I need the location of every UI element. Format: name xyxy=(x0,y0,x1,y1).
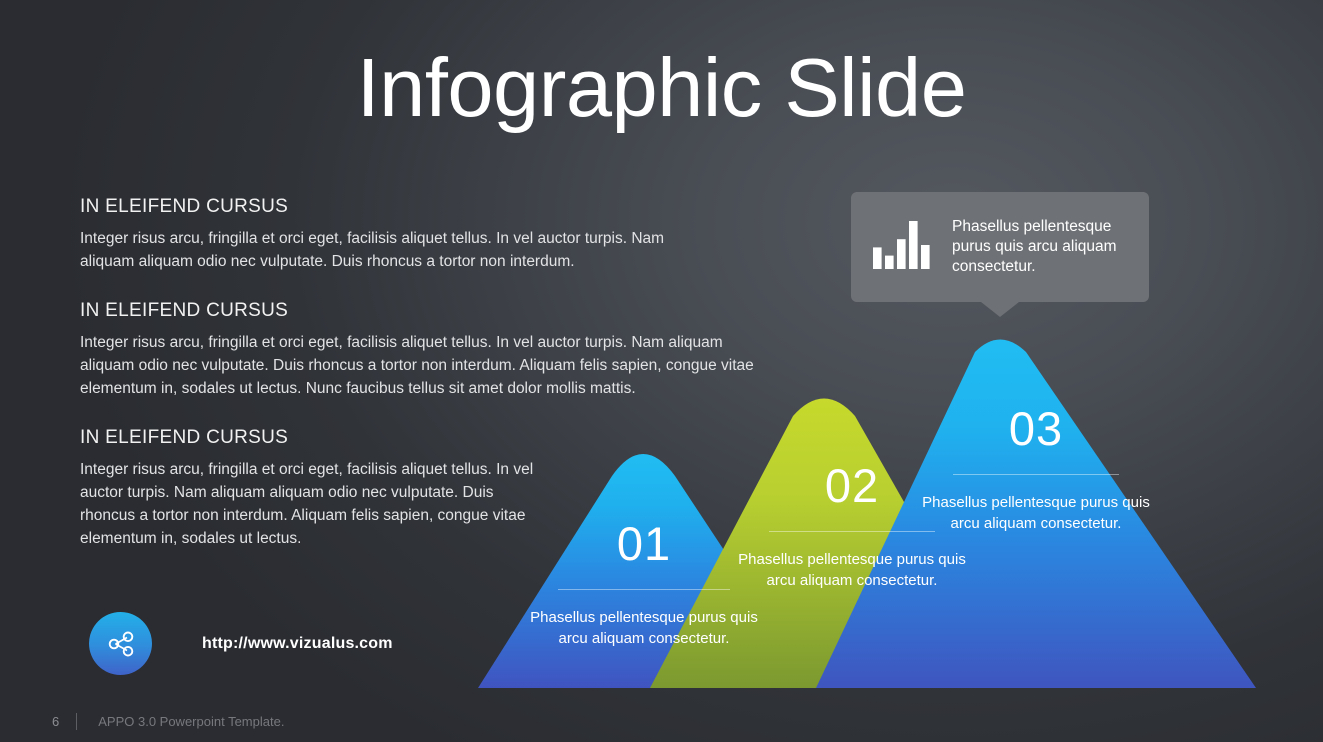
mountain-caption-03: Phasellus pellentesque purus quis arcu a… xyxy=(917,492,1155,534)
mountain-number-03: 03 xyxy=(917,405,1155,452)
text-block-3-body: Integer risus arcu, fringilla et orci eg… xyxy=(80,458,550,550)
footer-note: APPO 3.0 Powerpoint Template. xyxy=(98,714,284,729)
mountain-divider-01 xyxy=(558,589,730,590)
mountain-caption-02: Phasellus pellentesque purus quis arcu a… xyxy=(733,549,971,591)
mountain-label-03[interactable]: 03 Phasellus pellentesque purus quis arc… xyxy=(917,405,1155,534)
page-title: Infographic Slide xyxy=(0,44,1323,131)
mountain-number-01: 01 xyxy=(524,520,764,567)
share-nodes-icon xyxy=(104,627,138,661)
bar-chart-icon xyxy=(873,221,930,274)
mountain-divider-03 xyxy=(953,474,1119,475)
share-row[interactable]: http://www.vizualus.com xyxy=(89,612,393,675)
footer-divider xyxy=(76,713,77,730)
infographic-slide: Infographic Slide IN ELEIFEND CURSUS Int… xyxy=(0,0,1323,742)
text-block-1-heading: IN ELEIFEND CURSUS xyxy=(80,196,760,218)
mountain-caption-01: Phasellus pellentesque purus quis arcu a… xyxy=(524,607,764,649)
text-block-2: IN ELEIFEND CURSUS Integer risus arcu, f… xyxy=(80,300,760,400)
text-block-3-heading: IN ELEIFEND CURSUS xyxy=(80,427,760,449)
mountain-divider-02 xyxy=(769,531,935,532)
callout-text: Phasellus pellentesque purus quis arcu a… xyxy=(952,217,1133,277)
page-number: 6 xyxy=(52,714,59,729)
text-block-2-heading: IN ELEIFEND CURSUS xyxy=(80,300,760,322)
share-button[interactable] xyxy=(89,612,152,675)
website-url[interactable]: http://www.vizualus.com xyxy=(202,635,393,653)
text-block-2-body: Integer risus arcu, fringilla et orci eg… xyxy=(80,331,760,400)
footer: 6 APPO 3.0 Powerpoint Template. xyxy=(52,713,284,730)
text-block-1: IN ELEIFEND CURSUS Integer risus arcu, f… xyxy=(80,196,760,273)
mountain-label-01[interactable]: 01 Phasellus pellentesque purus quis arc… xyxy=(524,520,764,649)
text-block-1-body: Integer risus arcu, fringilla et orci eg… xyxy=(80,227,680,273)
callout-box[interactable]: Phasellus pellentesque purus quis arcu a… xyxy=(851,192,1149,302)
